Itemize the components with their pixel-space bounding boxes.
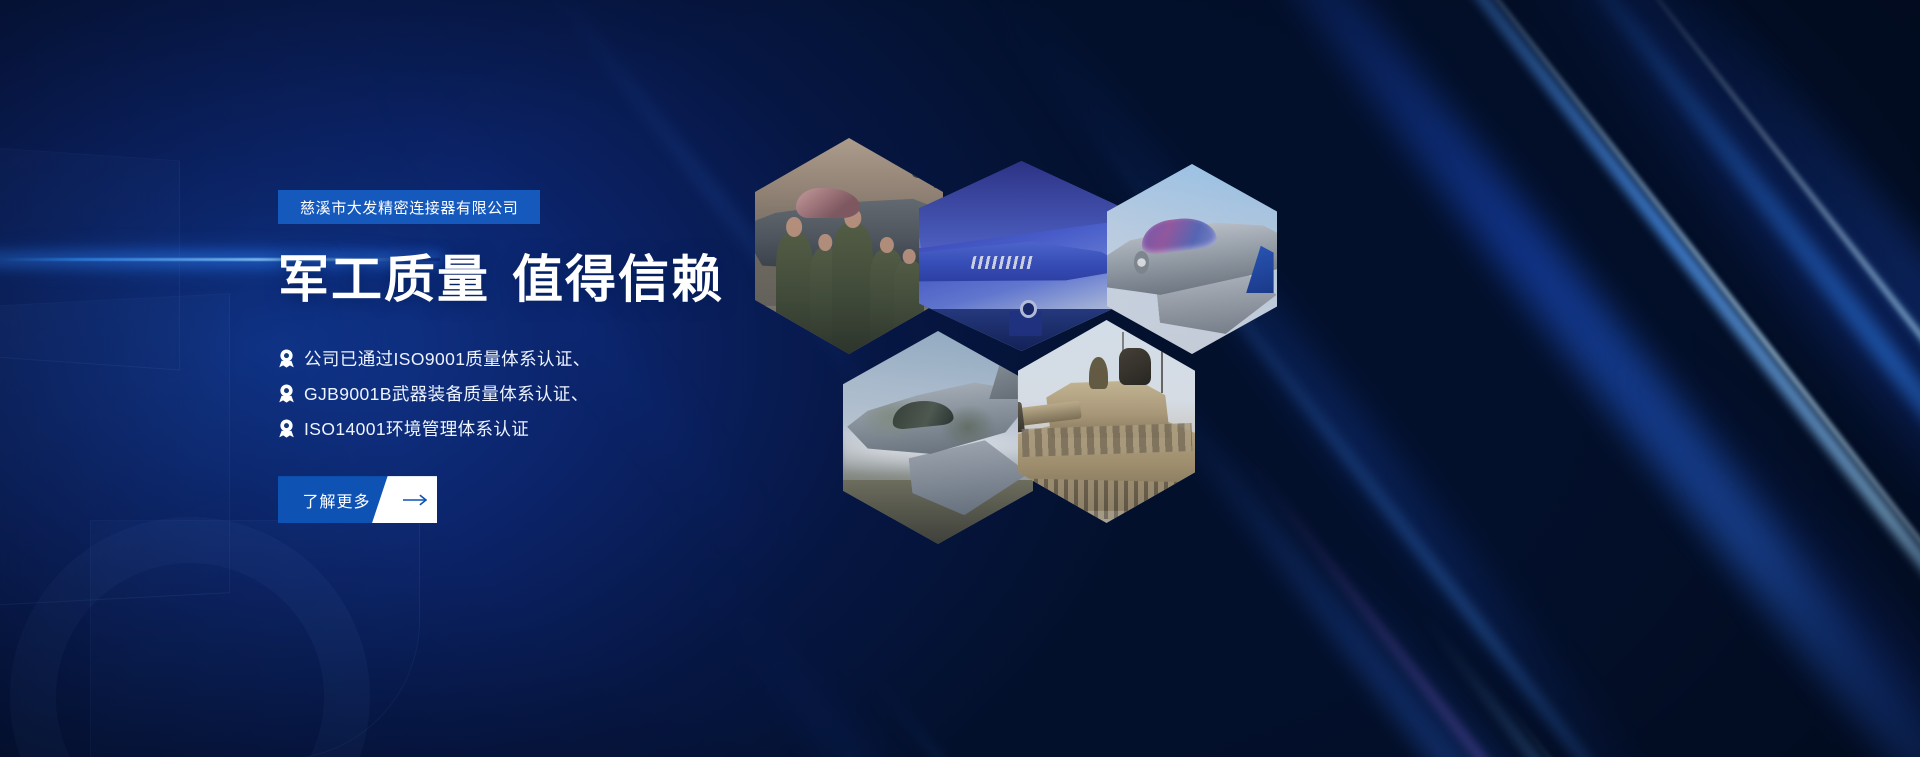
light-streak: [1664, 0, 1920, 757]
headline-part-2: 值得信赖: [512, 251, 724, 308]
light-streak: [1409, 600, 1920, 757]
light-streak: [1496, 690, 1920, 757]
light-streak: [1513, 0, 1920, 757]
certification-item: ISO14001环境管理体系认证: [278, 411, 978, 446]
light-streak: [1224, 430, 1920, 757]
certification-label: ISO14001环境管理体系认证: [304, 416, 529, 441]
light-streak: [1279, 0, 1920, 757]
light-streak: [1357, 0, 1920, 757]
hero-banner: 慈溪市大发精密连接器有限公司 军工质量值得信赖 公司已通过ISO9001质量体系…: [0, 0, 1920, 757]
medal-icon: [278, 384, 295, 403]
hex-gripen-jet: [1107, 164, 1277, 354]
boeing-logo-mark: [971, 256, 1035, 269]
hero-content: 慈溪市大发精密连接器有限公司 军工质量值得信赖 公司已通过ISO9001质量体系…: [278, 190, 978, 523]
light-streak: [852, 650, 1383, 757]
medal-icon: [278, 349, 295, 368]
certification-list: 公司已通过ISO9001质量体系认证、 GJB9001B武器装备质量体系认证、 …: [278, 341, 978, 446]
light-streak: [1293, 520, 1920, 757]
certification-item: 公司已通过ISO9001质量体系认证、: [278, 341, 978, 376]
cta-arrow-panel[interactable]: [397, 476, 437, 523]
company-name-badge: 慈溪市大发精密连接器有限公司: [278, 190, 540, 224]
light-streak: [1585, 300, 1920, 757]
certification-label: GJB9001B武器装备质量体系认证、: [304, 381, 589, 406]
learn-more-button[interactable]: 了解更多: [278, 476, 437, 523]
medal-icon: [278, 419, 295, 438]
arrow-right-icon: [403, 476, 429, 523]
page-title: 军工质量值得信赖: [278, 251, 978, 308]
light-streak: [676, 540, 1254, 757]
certification-item: GJB9001B武器装备质量体系认证、: [278, 376, 978, 411]
light-streak: [1751, 120, 1920, 757]
headline-part-1: 军工质量: [278, 251, 490, 308]
certification-label: 公司已通过ISO9001质量体系认证、: [304, 346, 591, 371]
light-streak: [1595, 0, 1920, 757]
light-streak: [1379, 0, 1920, 757]
learn-more-label: 了解更多: [278, 476, 395, 523]
hex-battle-tank: [1018, 320, 1195, 523]
